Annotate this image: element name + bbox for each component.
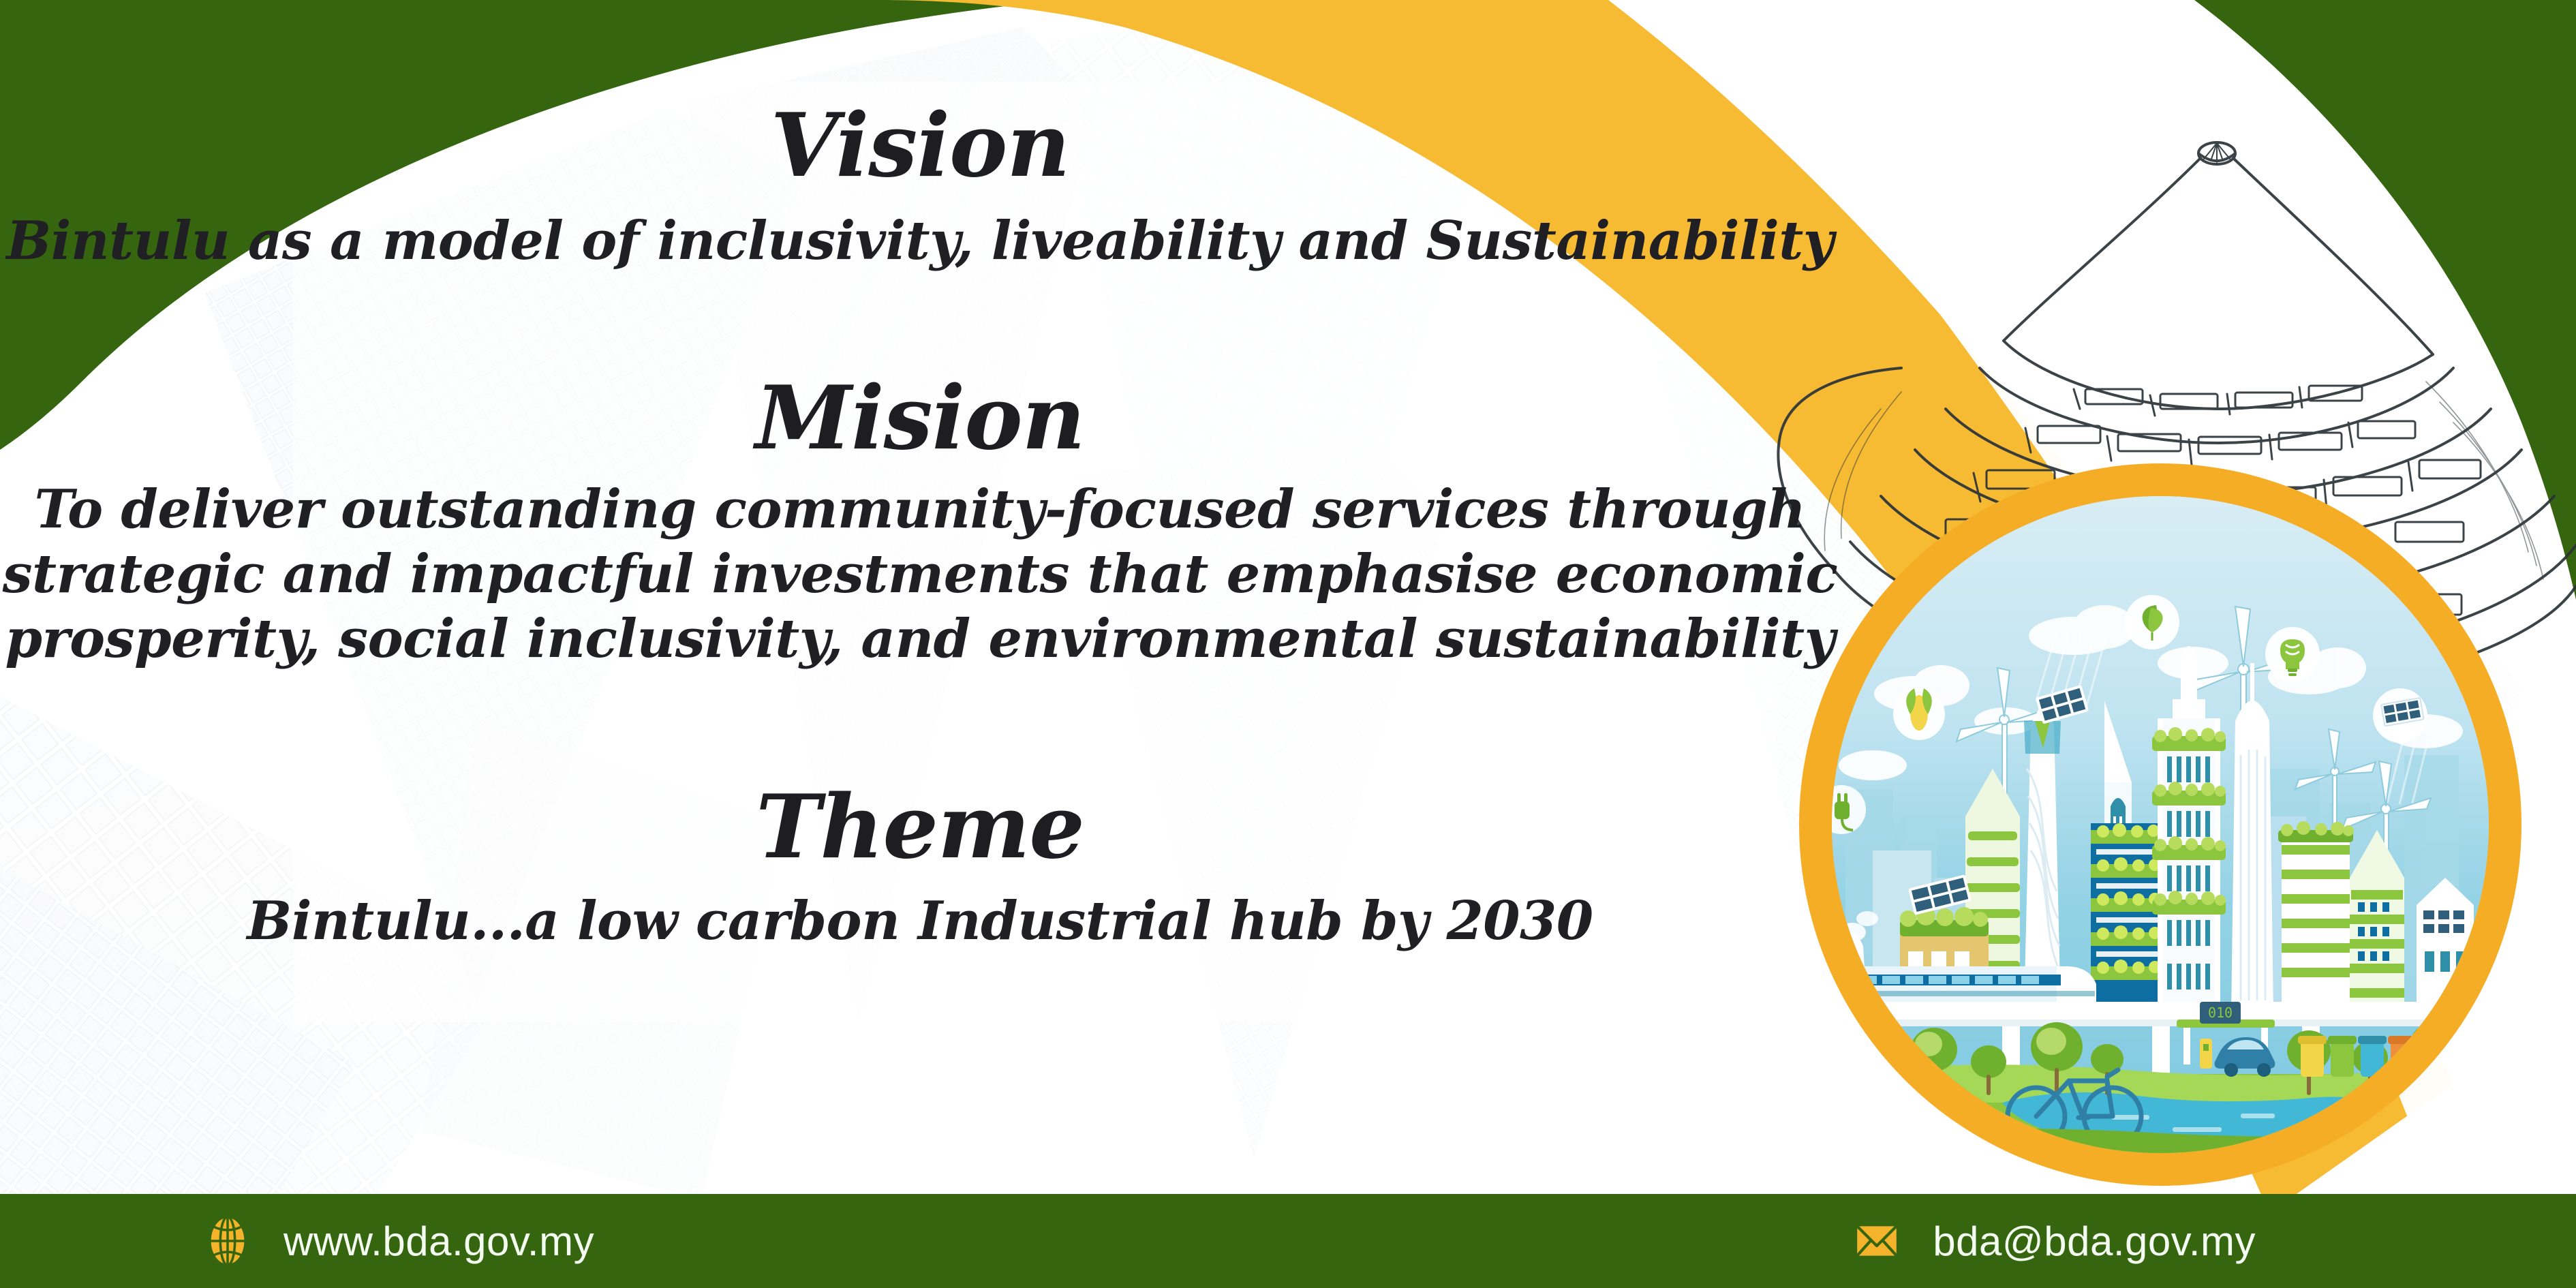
eco-city-artwork: 010 — [1832, 496, 2489, 1153]
envelope-icon — [1851, 1215, 1903, 1267]
website-label: www.bda.gov.my — [283, 1218, 594, 1265]
house-with-solar — [2417, 878, 2474, 1014]
footer-bar: www.bda.gov.my bda@bda.gov.my — [0, 1194, 2576, 1288]
eco-city-illustration: 010 — [1832, 496, 2489, 1153]
striped-office-tower — [2278, 821, 2354, 1014]
website-contact[interactable]: www.bda.gov.my — [202, 1215, 594, 1267]
globe-icon — [202, 1215, 254, 1267]
svg-text:010: 010 — [2208, 1005, 2233, 1021]
eco-city-circle-frame: 010 — [1799, 463, 2521, 1186]
bda-vision-mission-banner: Vision Bintulu as a model of inclusivity… — [0, 0, 2576, 1288]
email-label: bda@bda.gov.my — [1933, 1218, 2256, 1265]
email-contact[interactable]: bda@bda.gov.my — [1851, 1215, 2256, 1267]
monorail-train — [1852, 966, 2096, 1002]
